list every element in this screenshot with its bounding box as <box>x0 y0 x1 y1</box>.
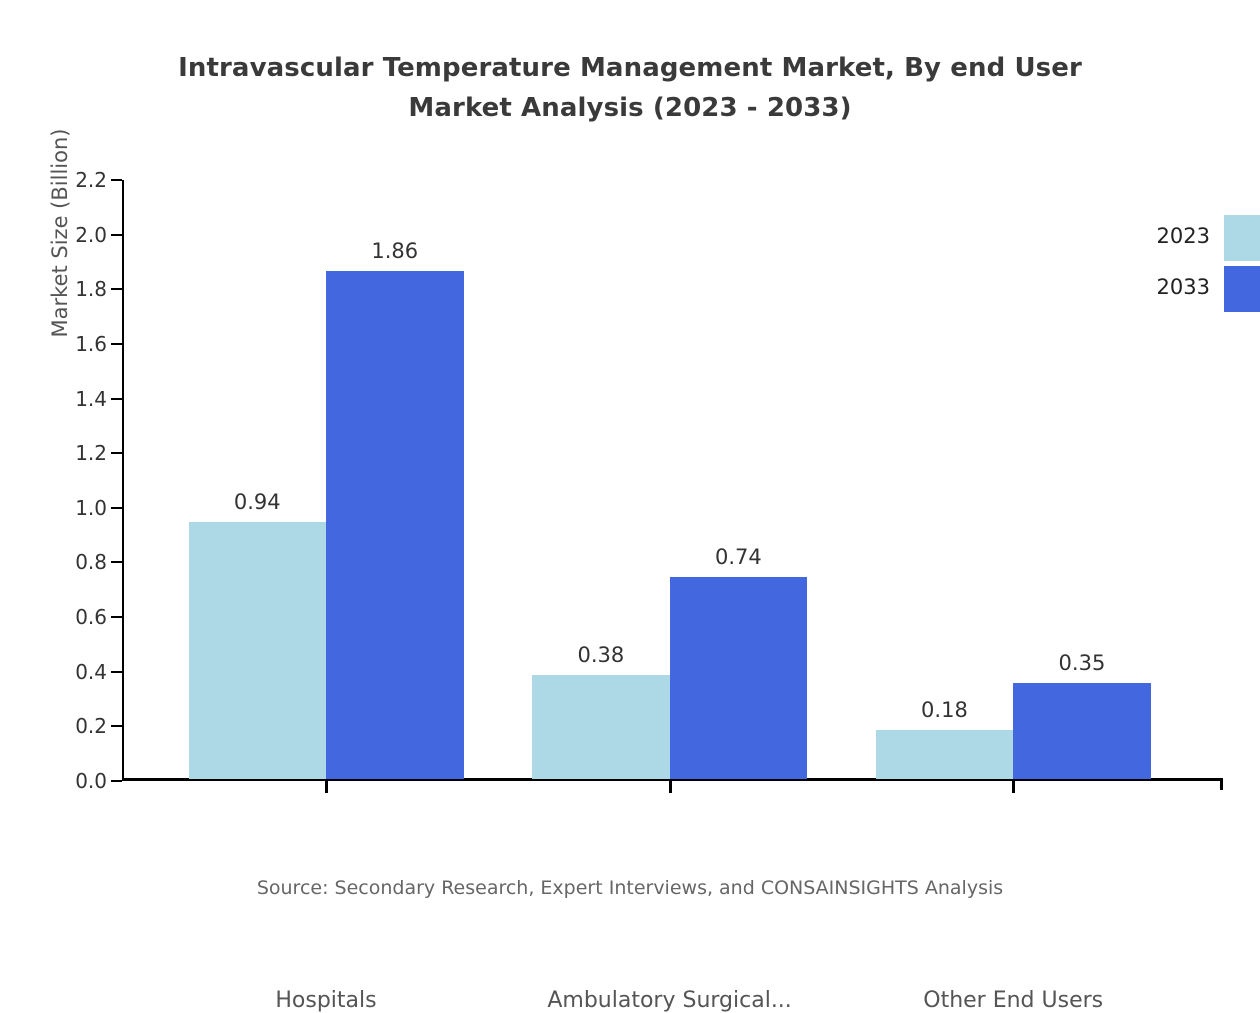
y-axis-tick-label: 0.8 <box>37 550 107 574</box>
bar-2033-1[interactable] <box>670 577 808 779</box>
bar-2023-2[interactable] <box>876 730 1014 779</box>
y-axis-tick <box>111 398 122 400</box>
y-axis-tick-label: 2.2 <box>37 168 107 192</box>
y-axis-tick <box>111 671 122 673</box>
bar-value-label: 1.86 <box>295 239 495 263</box>
y-axis-tick <box>111 288 122 290</box>
source-note: Source: Secondary Research, Expert Inter… <box>0 877 1260 899</box>
x-axis-category-label: Ambulatory Surgical... <box>470 988 870 1013</box>
x-axis-tick <box>325 781 328 793</box>
legend-swatch-2023 <box>1224 215 1260 261</box>
y-axis-line <box>122 180 124 781</box>
legend-label-2023: 2023 <box>1100 212 1210 260</box>
x-axis-tick <box>1012 781 1015 793</box>
y-axis-tick <box>111 234 122 236</box>
y-axis-tick-label: 1.2 <box>37 441 107 465</box>
x-axis-end-tick <box>1220 778 1223 790</box>
y-axis-tick <box>111 452 122 454</box>
bar-2033-0[interactable] <box>326 271 464 779</box>
y-axis-tick-label: 1.0 <box>37 496 107 520</box>
y-axis-tick-label: 0.0 <box>37 769 107 793</box>
x-axis-category-label: Other End Users <box>813 988 1213 1013</box>
bar-2023-1[interactable] <box>532 675 670 779</box>
y-axis-tick-label: 0.2 <box>37 714 107 738</box>
y-axis-tick-label: 1.8 <box>37 277 107 301</box>
x-axis-tick <box>669 781 672 793</box>
y-axis-tick-label: 2.0 <box>37 223 107 247</box>
plot-area: 0.00.20.40.60.81.01.21.41.61.82.02.2 Hos… <box>122 180 1222 781</box>
y-axis-tick <box>111 725 122 727</box>
y-axis-tick-label: 1.6 <box>37 332 107 356</box>
legend-label-2033: 2033 <box>1100 263 1210 311</box>
y-axis-tick-label: 1.4 <box>37 387 107 411</box>
bar-2033-2[interactable] <box>1013 683 1151 779</box>
legend-item-2023[interactable]: 2023 <box>1100 212 1260 260</box>
chart-title-line-1: Intravascular Temperature Management Mar… <box>0 48 1260 88</box>
y-axis-tick <box>111 780 122 782</box>
chart-title: Intravascular Temperature Management Mar… <box>0 48 1260 128</box>
chart-title-line-2: Market Analysis (2023 - 2033) <box>0 88 1260 128</box>
bar-value-label: 0.74 <box>638 545 838 569</box>
x-axis-category-label: Hospitals <box>126 988 526 1013</box>
chart-legend: 2023 2033 <box>1100 212 1260 322</box>
bar-value-label: 0.35 <box>982 651 1182 675</box>
y-axis-tick-label: 0.4 <box>37 660 107 684</box>
y-axis-tick <box>111 179 122 181</box>
y-axis-tick <box>111 343 122 345</box>
chart-figure: Intravascular Temperature Management Mar… <box>0 0 1260 920</box>
y-axis-tick <box>111 561 122 563</box>
y-axis-tick-label: 0.6 <box>37 605 107 629</box>
y-axis-tick <box>111 507 122 509</box>
legend-swatch-2033 <box>1224 266 1260 312</box>
bar-2023-0[interactable] <box>189 522 327 779</box>
legend-item-2033[interactable]: 2033 <box>1100 263 1260 311</box>
y-axis-tick <box>111 616 122 618</box>
